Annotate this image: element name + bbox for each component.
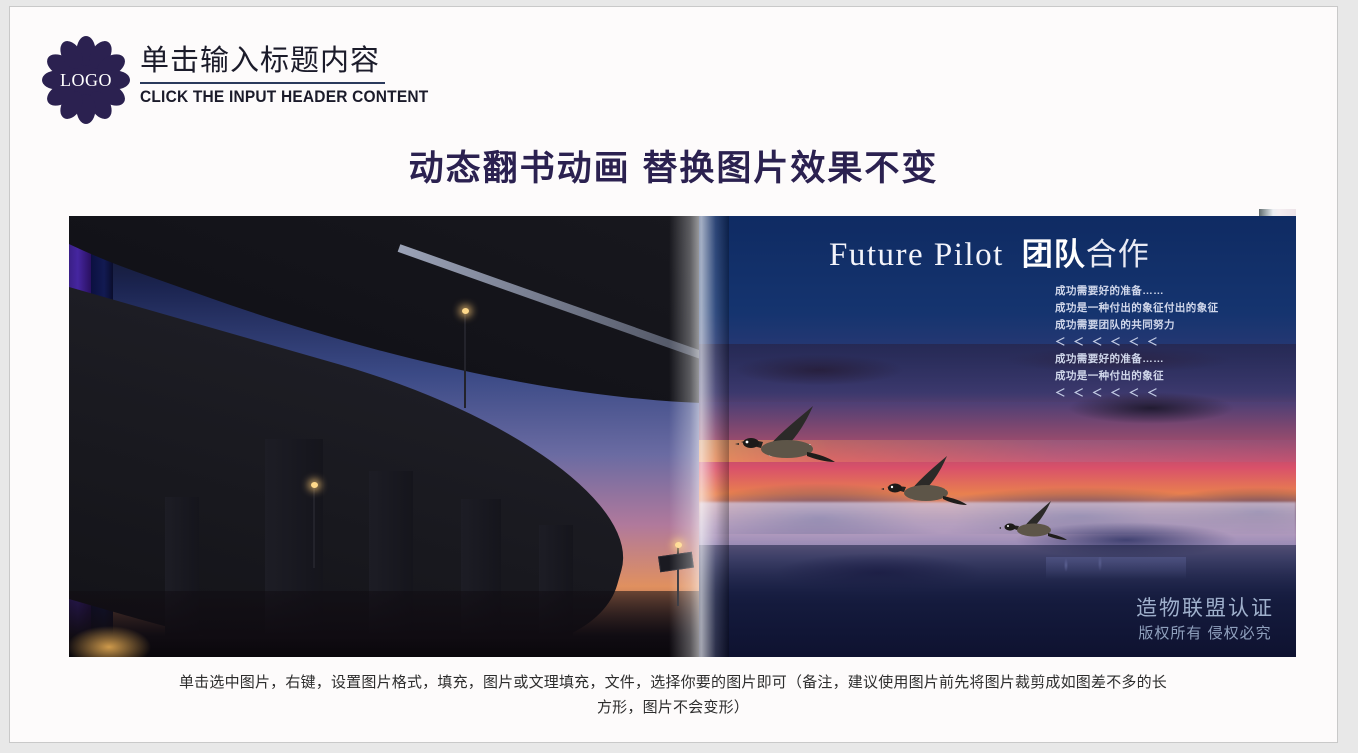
right-page-heading: Future Pilot 团队合作 (829, 236, 1269, 274)
heading-cn-bold: 团队 (1022, 237, 1086, 272)
body-line: ＜ ＜ ＜ ＜ ＜ ＜ (1055, 385, 1285, 402)
right-page-body-lines: 成功需要好的准备…… 成功是一种付出的象征付出的象征 成功需要团队的共同努力 ＜… (1055, 283, 1285, 402)
logo-label: LOGO (40, 34, 132, 126)
body-line: 成功需要好的准备…… (1055, 283, 1285, 300)
logo-flower-icon: LOGO (40, 34, 132, 126)
body-line: 成功是一种付出的象征付出的象征 (1055, 300, 1285, 317)
body-line: 成功需要好的准备…… (1055, 351, 1285, 368)
flying-goose-icon (999, 498, 1085, 546)
body-line: 成功需要团队的共同努力 (1055, 317, 1285, 334)
bottom-glow (69, 603, 209, 657)
heading-en: Future Pilot (829, 236, 1004, 274)
slide-canvas: LOGO 单击输入标题内容 CLICK THE INPUT HEADER CON… (10, 7, 1337, 742)
header-title-block: 单击输入标题内容 CLICK THE INPUT HEADER CONTENT (140, 42, 450, 106)
body-line: ＜ ＜ ＜ ＜ ＜ ＜ (1055, 334, 1285, 351)
flying-goose-icon (881, 452, 991, 512)
open-book-spread[interactable]: Future Pilot 团队合作 成功需要好的准备…… 成功是一种付出的象征付… (69, 216, 1296, 657)
heading-cn: 团队合作 (1022, 236, 1150, 274)
credit-sub: 版权所有 侵权必究 (1136, 623, 1274, 645)
instruction-caption: 单击选中图片，右键，设置图片格式，填充，图片或文理填充，文件，选择你要的图片即可… (173, 670, 1173, 720)
right-page-photo[interactable]: Future Pilot 团队合作 成功需要好的准备…… 成功是一种付出的象征付… (699, 216, 1296, 657)
page-title: 动态翻书动画 替换图片效果不变 (10, 147, 1337, 191)
street-lamp-icon (464, 312, 466, 408)
slide-header: LOGO 单击输入标题内容 CLICK THE INPUT HEADER CON… (40, 32, 460, 122)
heading-cn-light: 合作 (1086, 237, 1150, 272)
road-sign-icon (658, 552, 694, 573)
left-page-photo[interactable] (69, 216, 699, 657)
flying-goose-icon (735, 402, 865, 472)
header-title-cn: 单击输入标题内容 (140, 42, 450, 80)
right-page-credit: 造物联盟认证 版权所有 侵权必究 (1136, 595, 1274, 645)
distant-town (1046, 557, 1186, 579)
body-line: 成功是一种付出的象征 (1055, 368, 1285, 385)
street-lamp-icon (313, 486, 315, 568)
header-divider (140, 82, 385, 84)
header-title-en: CLICK THE INPUT HEADER CONTENT (140, 87, 450, 107)
credit-main: 造物联盟认证 (1136, 595, 1274, 623)
flipbook-spread[interactable]: Future Pilot 团队合作 成功需要好的准备…… 成功是一种付出的象征付… (59, 209, 1296, 657)
